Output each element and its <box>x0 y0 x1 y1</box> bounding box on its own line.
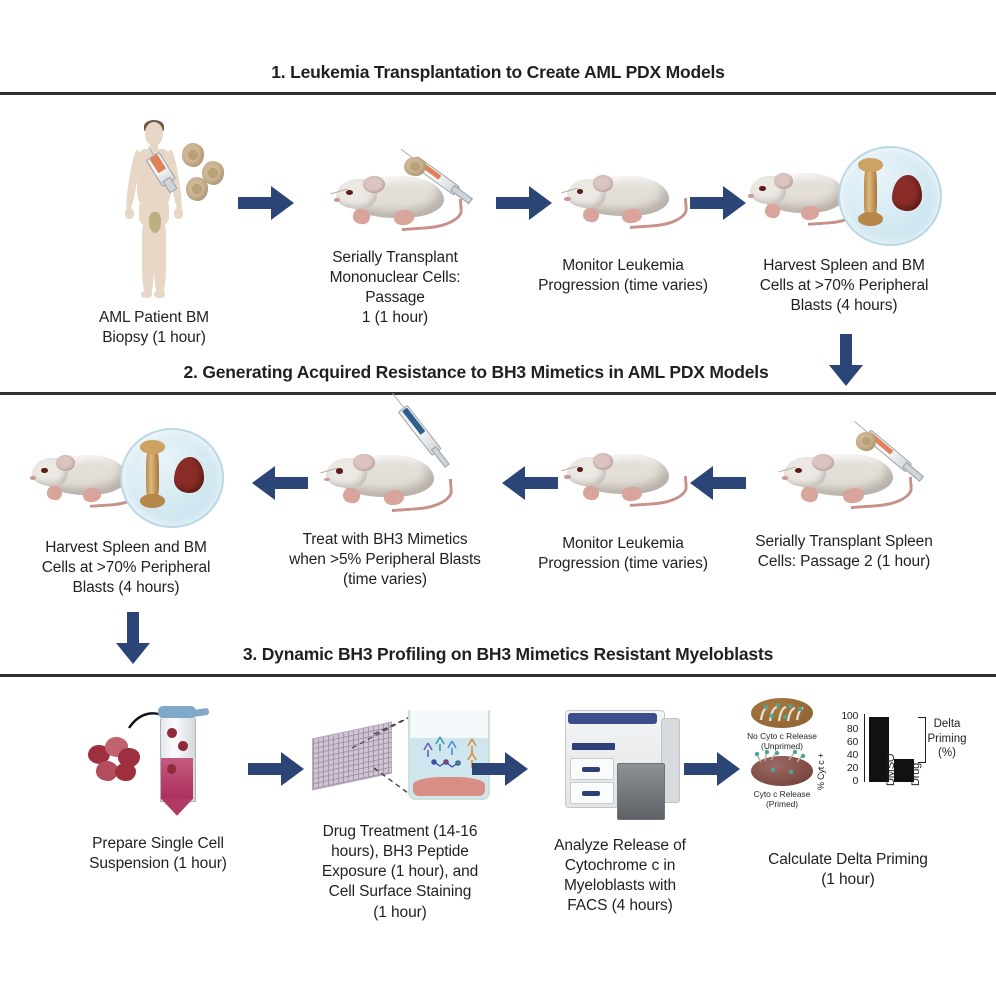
step-monitor-leukemia-2: Monitor Leukemia Progression (time varie… <box>530 438 716 574</box>
mouse-ear-shape <box>774 173 793 189</box>
microplate-well-icon <box>312 702 488 814</box>
step-calculate-delta-priming: No Cyto c Release (Unprimed) C <box>728 698 968 890</box>
step-caption: Serially Transplant Mononuclear Cells: P… <box>300 248 490 329</box>
mouse-nose-shape <box>564 197 570 201</box>
mouse-petri-dish-bone-spleen-icon <box>746 146 942 244</box>
delta-priming-bar-chart: % Cyt c + 100 80 60 40 20 0 DMSO Drug De… <box>824 702 968 826</box>
step-monitor-leukemia-1: Monitor Leukemia Progression (time varie… <box>530 160 716 296</box>
facs-sample-chamber-shape <box>617 763 664 820</box>
y-tick-60: 60 <box>832 736 858 748</box>
chart-y-axis <box>864 714 865 782</box>
cells-centrifuge-tube-icon <box>83 700 233 820</box>
legend-line-1: No Cyto c Release <box>734 731 830 741</box>
step-aml-patient-biopsy: AML Patient BM Biopsy (1 hour) <box>48 118 260 348</box>
cell-blob-icon <box>186 177 208 200</box>
syringe-icon <box>399 405 440 453</box>
mouse-tail-shape <box>390 478 454 511</box>
mouse-ear-shape <box>353 454 375 471</box>
petri-dish-icon <box>120 428 224 528</box>
spleen-icon <box>174 457 204 493</box>
arrow-right-icon <box>238 186 294 220</box>
step-caption: Serially Transplant Spleen Cells: Passag… <box>736 532 952 572</box>
step-caption: Calculate Delta Priming (1 hour) <box>728 850 968 890</box>
mouse-ear-shape <box>56 455 75 471</box>
arrow-right-icon <box>472 752 528 786</box>
delta-priming-chart-icon: No Cyto c Release (Unprimed) C <box>728 698 968 826</box>
section-2-divider <box>0 392 996 395</box>
mouse-eye-shape <box>346 190 353 195</box>
section-3-divider <box>0 674 996 677</box>
cell-blob-icon <box>404 157 426 176</box>
mouse-nose-shape <box>748 194 754 198</box>
facs-top-panel-shape <box>568 713 656 724</box>
mouse-eye-shape <box>577 189 584 194</box>
mouse-treatment-syringe-icon <box>321 438 449 514</box>
mouse-ear-shape <box>593 175 614 192</box>
mouse-tail-shape <box>628 198 689 230</box>
section-1-title: 1. Leukemia Transplantation to Create AM… <box>0 62 996 83</box>
y-tick-80: 80 <box>832 723 858 735</box>
legend-line-2: (Primed) <box>734 799 830 809</box>
step-drug-treatment: Drug Treatment (14-16 hours), BH3 Peptid… <box>300 702 500 923</box>
spleen-icon <box>892 175 922 211</box>
legend-line-1: Cyto c Release <box>734 789 830 799</box>
mouse-eye-shape <box>795 468 802 473</box>
mouse-eye-shape <box>577 467 584 472</box>
mitochondria-unprimed-legend: No Cyto c Release (Unprimed) <box>734 698 830 752</box>
mouse-nose-shape <box>30 476 36 480</box>
left-hand-shape <box>125 208 134 219</box>
tube-tip-shape <box>160 798 194 816</box>
y-tick-20: 20 <box>832 762 858 774</box>
chart-y-axis-label: % Cyt c + <box>816 753 826 790</box>
mitochondrion-primed-icon <box>751 756 813 786</box>
facs-machine-icon <box>557 700 683 826</box>
step-prepare-single-cell: Prepare Single Cell Suspension (1 hour) <box>54 700 262 874</box>
x-tick-label-drug: Drug <box>910 763 922 786</box>
step-treat-bh3-mimetics: Treat with BH3 Mimetics when >5% Periphe… <box>272 438 498 590</box>
mouse-tail-shape <box>400 199 464 231</box>
step-caption: Treat with BH3 Mimetics when >5% Periphe… <box>272 530 498 590</box>
step-caption: AML Patient BM Biopsy (1 hour) <box>48 308 260 348</box>
step-caption: Prepare Single Cell Suspension (1 hour) <box>54 834 262 874</box>
mouse-icon <box>562 160 684 232</box>
mouse-eye-shape <box>41 468 47 473</box>
mouse-tail-shape <box>628 476 689 508</box>
arrow-right-icon <box>690 186 746 220</box>
mitochondrion-unprimed-icon <box>751 698 813 728</box>
y-tick-40: 40 <box>832 749 858 761</box>
arrow-right-icon <box>248 752 304 786</box>
bone-marrow-icon <box>146 443 159 504</box>
right-hand-shape <box>174 208 183 219</box>
y-tick-100: 100 <box>832 710 858 722</box>
step-caption: Drug Treatment (14-16 hours), BH3 Peptid… <box>300 822 500 923</box>
y-tick-0: 0 <box>832 775 858 787</box>
mouse-ear-shape <box>593 453 614 470</box>
mouse-icon <box>562 438 684 510</box>
step-harvest-spleen-bm-1: Harvest Spleen and BM Cells at >70% Peri… <box>742 146 946 316</box>
step-serially-transplant-spleen: Serially Transplant Spleen Cells: Passag… <box>736 438 952 572</box>
mouse-injection-icon <box>779 438 909 512</box>
mouse-eye-shape <box>336 468 343 473</box>
human-patient-syringe-icon <box>104 118 204 298</box>
protocol-figure: 1. Leukemia Transplantation to Create AM… <box>0 0 996 996</box>
x-tick-label-dmso: DMSO <box>885 754 897 786</box>
section-2-title: 2. Generating Acquired Resistance to BH3… <box>0 362 974 383</box>
tube-fluid-shape <box>161 758 193 799</box>
section-1-divider <box>0 92 996 95</box>
step-caption: Analyze Release of Cytochrome c in Myelo… <box>528 836 712 917</box>
mouse-nose-shape <box>564 475 570 479</box>
mouse-eye-shape <box>759 186 765 191</box>
bone-marrow-icon <box>864 161 877 222</box>
delta-priming-annotation: Delta Priming (%) <box>924 717 970 761</box>
step-caption: Harvest Spleen and BM Cells at >70% Peri… <box>742 256 946 316</box>
left-foot-shape <box>141 291 152 298</box>
step-caption: Monitor Leukemia Progression (time varie… <box>530 534 716 574</box>
mouse-ear-shape <box>363 176 385 193</box>
cell-cluster-icon <box>87 736 141 784</box>
right-foot-shape <box>154 291 165 298</box>
mouse-tail-shape <box>849 477 914 509</box>
step-harvest-spleen-bm-2: Harvest Spleen and BM Cells at >70% Peri… <box>18 428 234 598</box>
mouse-petri-dish-bone-spleen-icon <box>28 428 224 526</box>
petri-dish-icon <box>838 146 942 246</box>
mouse-ear-shape <box>812 454 834 471</box>
section-3-title: 3. Dynamic BH3 Profiling on BH3 Mimetics… <box>10 644 996 665</box>
step-analyze-facs: Analyze Release of Cytochrome c in Myelo… <box>528 700 712 917</box>
step-caption: Harvest Spleen and BM Cells at >70% Peri… <box>18 538 234 598</box>
mouse-injection-icon <box>331 160 459 234</box>
cell-blob-icon <box>856 432 877 451</box>
cell-blob-icon <box>182 143 204 166</box>
step-serially-transplant-mnc: Serially Transplant Mononuclear Cells: P… <box>300 160 490 329</box>
step-caption: Monitor Leukemia Progression (time varie… <box>530 256 716 296</box>
